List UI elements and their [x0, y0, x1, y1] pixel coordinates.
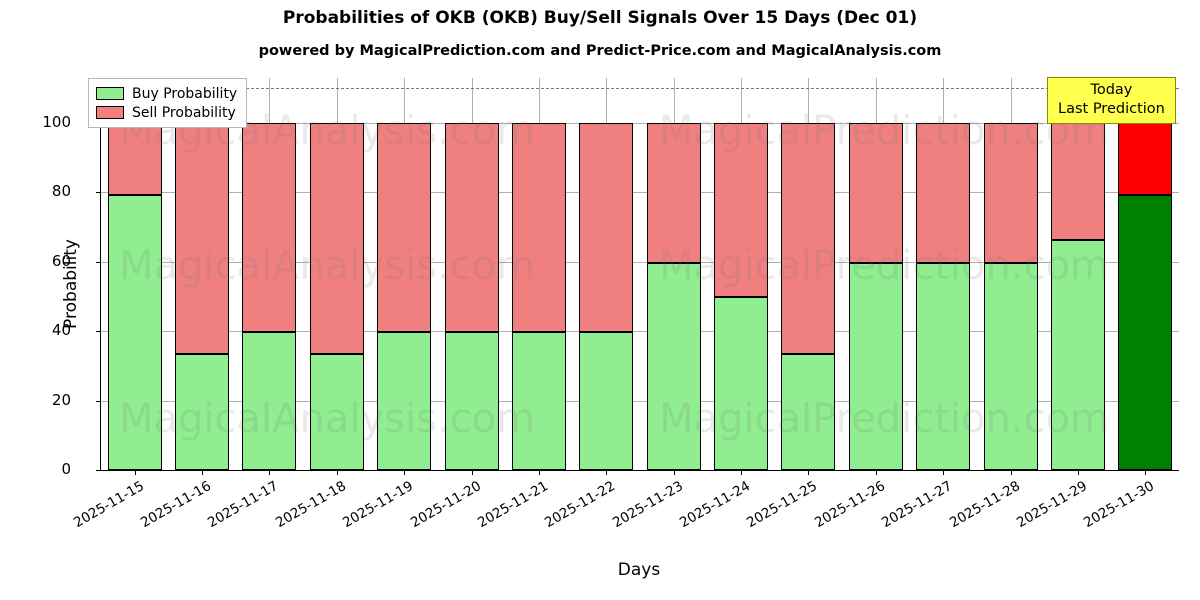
legend-item[interactable]: Buy Probability [96, 84, 237, 103]
bar-stacked[interactable] [714, 78, 768, 470]
bar-segment-buy[interactable] [175, 354, 229, 470]
bar-stacked[interactable] [377, 78, 431, 470]
bar-stacked[interactable] [242, 78, 296, 470]
bar-segment-sell[interactable] [781, 123, 835, 354]
y-tick-mark [96, 470, 101, 471]
bar-stacked[interactable] [108, 78, 162, 470]
bar-segment-sell[interactable] [512, 123, 566, 332]
bar-segment-buy[interactable] [849, 263, 903, 470]
bar-segment-sell[interactable] [377, 123, 431, 332]
plot-area: MagicalAnalysis.comMagicalPrediction.com… [100, 78, 1179, 471]
x-tick-mark [135, 470, 136, 475]
y-axis-label: Probability [61, 4, 81, 564]
y-tick-label: 0 [11, 462, 71, 477]
x-tick-mark [472, 470, 473, 475]
page-title: Probabilities of OKB (OKB) Buy/Sell Sign… [0, 0, 1200, 36]
chart-figure: Probabilities of OKB (OKB) Buy/Sell Sign… [0, 0, 1200, 600]
today-annotation: Today Last Prediction [1047, 77, 1176, 124]
bar-stacked[interactable] [310, 78, 364, 470]
bar-segment-buy[interactable] [377, 332, 431, 470]
bar-segment-sell[interactable] [579, 123, 633, 332]
x-tick-mark [606, 470, 607, 475]
y-tick-label: 60 [11, 254, 71, 269]
bar-segment-sell[interactable] [108, 123, 162, 194]
bar-stacked[interactable] [849, 78, 903, 470]
x-tick-mark [337, 470, 338, 475]
chart-legend: Buy ProbabilitySell Probability [88, 78, 247, 128]
bar-segment-buy[interactable] [579, 332, 633, 470]
bar-segment-buy[interactable] [108, 195, 162, 470]
bar-segment-sell[interactable] [445, 123, 499, 332]
y-tick-label: 100 [11, 115, 71, 130]
x-tick-mark [269, 470, 270, 475]
bar-stacked[interactable] [1051, 78, 1105, 470]
legend-item[interactable]: Sell Probability [96, 103, 237, 122]
bar-segment-sell[interactable] [1051, 123, 1105, 240]
bar-segment-sell[interactable] [242, 123, 296, 332]
x-tick-mark [943, 470, 944, 475]
x-tick-mark [674, 470, 675, 475]
legend-label: Sell Probability [132, 105, 236, 121]
bar-stacked[interactable] [175, 78, 229, 470]
bar-segment-buy[interactable] [445, 332, 499, 470]
today-label-line2: Last Prediction [1058, 100, 1165, 119]
x-tick-mark [1011, 470, 1012, 475]
x-tick-mark [404, 470, 405, 475]
bar-stacked[interactable] [781, 78, 835, 470]
y-tick-label: 20 [11, 393, 71, 408]
bar-segment-buy[interactable] [781, 354, 835, 470]
bar-segment-sell[interactable] [175, 123, 229, 354]
x-tick-mark [1078, 470, 1079, 475]
bar-segment-buy[interactable] [1118, 195, 1172, 470]
bar-segment-buy[interactable] [1051, 240, 1105, 470]
y-tick-label: 40 [11, 323, 71, 338]
bar-segment-buy[interactable] [512, 332, 566, 470]
bar-stacked[interactable] [984, 78, 1038, 470]
legend-label: Buy Probability [132, 86, 237, 102]
bar-segment-sell[interactable] [916, 123, 970, 263]
x-tick-mark [1145, 470, 1146, 475]
today-label-line1: Today [1058, 81, 1165, 100]
chart-subtitle: powered by MagicalPrediction.com and Pre… [0, 40, 1200, 62]
bar-segment-buy[interactable] [714, 297, 768, 470]
bar-segment-sell[interactable] [714, 123, 768, 296]
x-tick-mark [741, 470, 742, 475]
bar-segment-sell[interactable] [310, 123, 364, 354]
bar-segment-buy[interactable] [647, 263, 701, 470]
bar-segment-buy[interactable] [242, 332, 296, 470]
bar-segment-sell[interactable] [984, 123, 1038, 263]
x-tick-mark [808, 470, 809, 475]
bar-stacked[interactable] [916, 78, 970, 470]
bar-stacked[interactable] [512, 78, 566, 470]
x-tick-mark [876, 470, 877, 475]
bar-stacked[interactable] [445, 78, 499, 470]
bar-segment-buy[interactable] [916, 263, 970, 470]
y-tick-label: 80 [11, 184, 71, 199]
bar-segment-buy[interactable] [984, 263, 1038, 470]
reference-line [101, 88, 1179, 89]
plot-inner: MagicalAnalysis.comMagicalPrediction.com… [101, 78, 1179, 470]
bar-today[interactable] [1118, 78, 1172, 470]
bar-stacked[interactable] [647, 78, 701, 470]
x-tick-mark [539, 470, 540, 475]
legend-swatch-icon [96, 87, 124, 100]
bar-segment-buy[interactable] [310, 354, 364, 470]
bar-segment-sell[interactable] [647, 123, 701, 263]
x-tick-mark [202, 470, 203, 475]
bar-stacked[interactable] [579, 78, 633, 470]
legend-swatch-icon [96, 106, 124, 119]
x-axis-label: Days [100, 560, 1178, 580]
bar-segment-sell[interactable] [1118, 123, 1172, 194]
bar-segment-sell[interactable] [849, 123, 903, 263]
